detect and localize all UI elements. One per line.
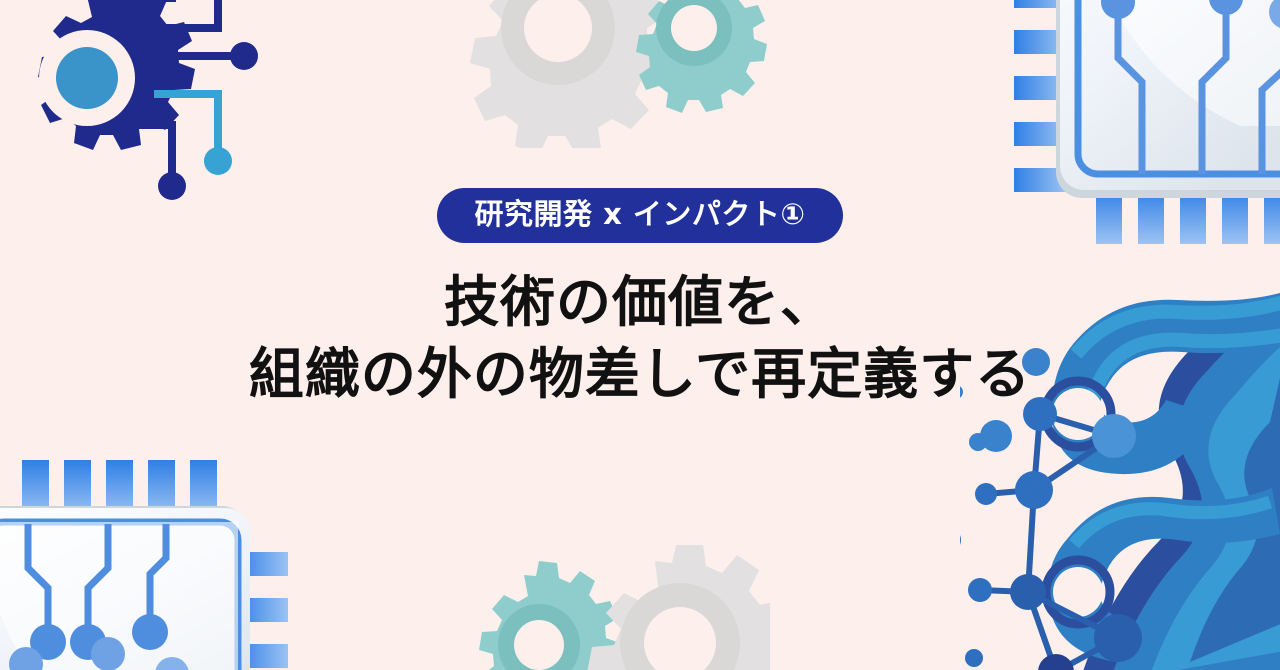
slide-canvas: 研究開発 x インパクト① 技術の価値を、 組織の外の物差しで再定義する: [0, 0, 1280, 670]
page-title: 技術の価値を、 組織の外の物差しで再定義する: [249, 267, 1031, 410]
slide-content: 研究開発 x インパクト① 技術の価値を、 組織の外の物差しで再定義する: [0, 0, 1280, 670]
category-badge: 研究開発 x インパクト①: [437, 188, 844, 243]
page-title-line-1: 技術の価値を、: [249, 267, 1031, 339]
page-title-line-2: 組織の外の物差しで再定義する: [249, 339, 1031, 411]
